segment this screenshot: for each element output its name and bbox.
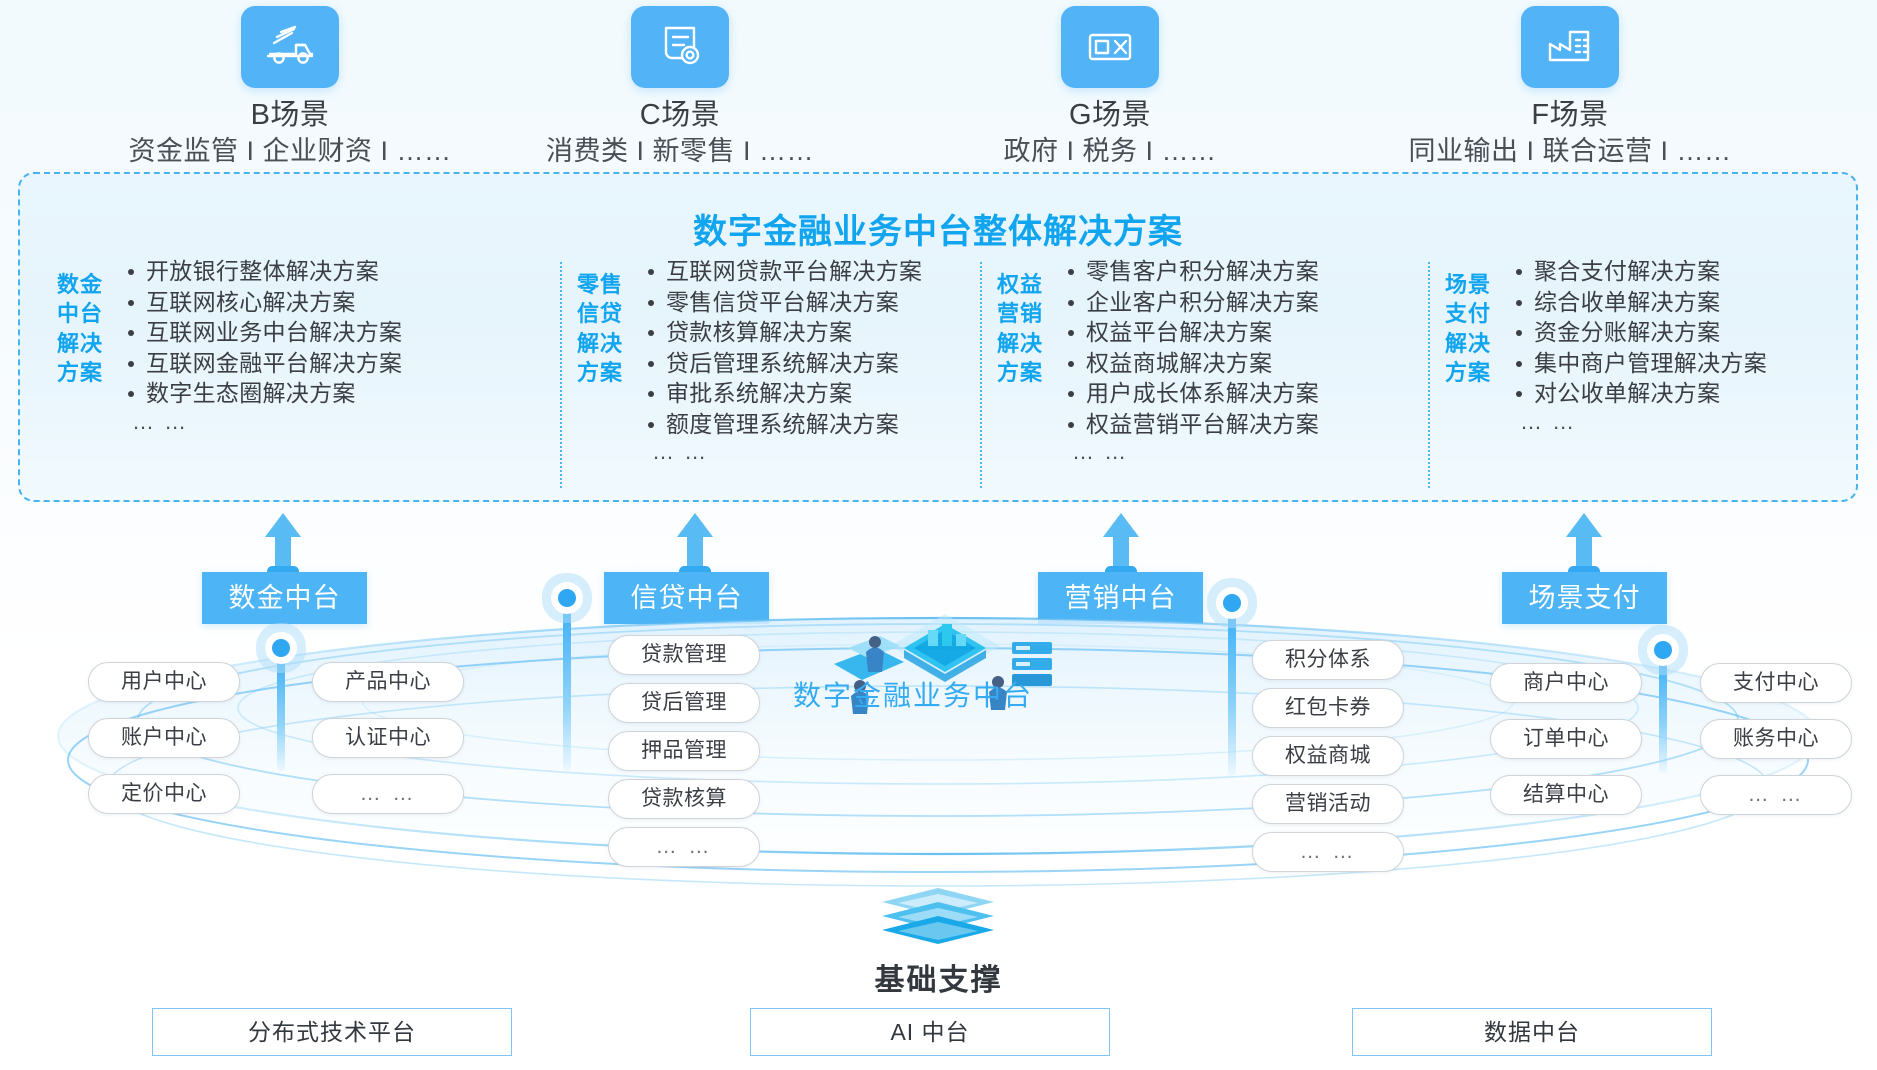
diagram-canvas: B场景 资金监管 I 企业财资 I …… C场景 消费类 I 新零售 I ……: [0, 0, 1877, 1070]
scene-subtitle: 政府 I 税务 I ……: [930, 135, 1290, 167]
solution-more: … …: [112, 409, 402, 435]
capability-chip[interactable]: 营销活动: [1252, 784, 1404, 824]
government-bank-icon: [1061, 6, 1159, 88]
capability-chip[interactable]: 支付中心: [1700, 663, 1852, 703]
capability-chip[interactable]: 账务中心: [1700, 719, 1852, 759]
solution-item: 数字生态圈解决方案: [126, 378, 402, 409]
up-arrow-zhifu: [1566, 513, 1602, 571]
solution-column-tag: 场景支付解决方案: [1436, 270, 1500, 387]
solution-list: 开放银行整体解决方案 互联网核心解决方案 互联网业务中台解决方案 互联网金融平台…: [112, 256, 402, 409]
capability-chip-more[interactable]: … …: [1252, 832, 1404, 872]
solution-item: 贷款核算解决方案: [646, 317, 922, 348]
scene-subtitle: 消费类 I 新零售 I ……: [500, 135, 860, 167]
solution-item: 互联网核心解决方案: [126, 287, 402, 318]
solution-columns: 数金中台解决方案 开放银行整体解决方案 互联网核心解决方案 互联网业务中台解决方…: [42, 256, 1838, 472]
capability-chip[interactable]: 产品中心: [312, 662, 464, 702]
scene-card-g[interactable]: G场景 政府 I 税务 I ……: [930, 6, 1290, 168]
capability-chip-more[interactable]: … …: [1700, 775, 1852, 815]
scene-title: C场景: [500, 98, 860, 132]
core-platform-label: 数字金融业务中台: [793, 674, 1033, 714]
capability-chip-more[interactable]: … …: [608, 827, 760, 867]
solution-item: 开放银行整体解决方案: [126, 256, 402, 287]
capability-chip[interactable]: 结算中心: [1490, 775, 1642, 815]
scene-card-c[interactable]: C场景 消费类 I 新零售 I ……: [500, 6, 860, 168]
scene-title: G场景: [930, 98, 1290, 132]
solution-column-quanyi: 权益营销解决方案 零售客户积分解决方案 企业客户积分解决方案 权益平台解决方案 …: [982, 256, 1430, 472]
solution-item: 零售客户积分解决方案: [1066, 256, 1319, 287]
base-box-ai[interactable]: AI 中台: [750, 1008, 1110, 1056]
scene-card-f[interactable]: F场景 同业输出 I 联合运营 I ……: [1390, 6, 1750, 168]
factory-building-icon: [1521, 6, 1619, 88]
scene-title: B场景: [110, 98, 470, 132]
scene-card-b[interactable]: B场景 资金监管 I 企业财资 I ……: [110, 6, 470, 168]
capability-chip[interactable]: 红包卡券: [1252, 688, 1404, 728]
solution-item: 权益营销平台解决方案: [1066, 409, 1319, 440]
solution-more: … …: [632, 439, 922, 465]
solution-column-lingshou: 零售信贷解决方案 互联网贷款平台解决方案 零售信贷平台解决方案 贷款核算解决方案…: [562, 256, 982, 472]
solution-item: 额度管理系统解决方案: [646, 409, 922, 440]
solution-column-shujin: 数金中台解决方案 开放银行整体解决方案 互联网核心解决方案 互联网业务中台解决方…: [42, 256, 562, 472]
capability-chip-more[interactable]: … …: [312, 774, 464, 814]
capability-chip[interactable]: 用户中心: [88, 662, 240, 702]
solution-item: 聚合支付解决方案: [1514, 256, 1767, 287]
solution-item: 互联网业务中台解决方案: [126, 317, 402, 348]
solution-box: 数字金融业务中台整体解决方案 数金中台解决方案 开放银行整体解决方案 互联网核心…: [18, 172, 1858, 502]
scene-subtitle: 同业输出 I 联合运营 I ……: [1390, 135, 1750, 167]
solution-column-tag: 数金中台解决方案: [48, 270, 112, 387]
capability-chip[interactable]: 权益商城: [1252, 736, 1404, 776]
capability-chip[interactable]: 贷后管理: [608, 683, 760, 723]
solution-item: 集中商户管理解决方案: [1514, 348, 1767, 379]
truck-logistics-icon: [241, 6, 339, 88]
base-support-title: 基础支撑: [0, 955, 1877, 999]
capability-chip[interactable]: 贷款管理: [608, 635, 760, 675]
solution-list: 聚合支付解决方案 综合收单解决方案 资金分账解决方案 集中商户管理解决方案 对公…: [1500, 256, 1767, 409]
solution-item: 企业客户积分解决方案: [1066, 287, 1319, 318]
solution-column-tag: 权益营销解决方案: [988, 270, 1052, 387]
solution-item: 权益平台解决方案: [1066, 317, 1319, 348]
solution-item: 零售信贷平台解决方案: [646, 287, 922, 318]
capability-chip[interactable]: 认证中心: [312, 718, 464, 758]
base-box-data[interactable]: 数据中台: [1352, 1008, 1712, 1056]
solution-column-changjing: 场景支付解决方案 聚合支付解决方案 综合收单解决方案 资金分账解决方案 集中商户…: [1430, 256, 1838, 472]
platform-3d-illustration: [800, 590, 1090, 740]
capability-chip[interactable]: 商户中心: [1490, 663, 1642, 703]
solution-item: 综合收单解决方案: [1514, 287, 1767, 318]
solution-box-title: 数字金融业务中台整体解决方案: [20, 204, 1856, 253]
layered-stack-icon: [868, 886, 1008, 948]
up-arrow-xindai: [677, 513, 713, 571]
solution-item: 资金分账解决方案: [1514, 317, 1767, 348]
solution-item: 权益商城解决方案: [1066, 348, 1319, 379]
solution-list: 零售客户积分解决方案 企业客户积分解决方案 权益平台解决方案 权益商城解决方案 …: [1052, 256, 1319, 439]
capability-chip[interactable]: 押品管理: [608, 731, 760, 771]
base-box-distributed[interactable]: 分布式技术平台: [152, 1008, 512, 1056]
document-search-icon: [631, 6, 729, 88]
solution-item: 互联网贷款平台解决方案: [646, 256, 922, 287]
capability-chip[interactable]: 积分体系: [1252, 640, 1404, 680]
solution-item: 审批系统解决方案: [646, 378, 922, 409]
capability-chip[interactable]: 贷款核算: [608, 779, 760, 819]
solution-item: 对公收单解决方案: [1514, 378, 1767, 409]
up-arrow-yingxiao: [1103, 513, 1139, 571]
scene-row: B场景 资金监管 I 企业财资 I …… C场景 消费类 I 新零售 I ……: [0, 6, 1877, 166]
capability-chip[interactable]: 订单中心: [1490, 719, 1642, 759]
scene-title: F场景: [1390, 98, 1750, 132]
solution-item: 互联网金融平台解决方案: [126, 348, 402, 379]
up-arrow-shujin: [265, 513, 301, 571]
capability-chip[interactable]: 定价中心: [88, 774, 240, 814]
solution-item: 贷后管理系统解决方案: [646, 348, 922, 379]
scene-subtitle: 资金监管 I 企业财资 I ……: [110, 135, 470, 167]
solution-more: … …: [1052, 439, 1319, 465]
solution-list: 互联网贷款平台解决方案 零售信贷平台解决方案 贷款核算解决方案 贷后管理系统解决…: [632, 256, 922, 439]
capability-chip[interactable]: 账户中心: [88, 718, 240, 758]
solution-more: … …: [1500, 409, 1767, 435]
solution-item: 用户成长体系解决方案: [1066, 378, 1319, 409]
solution-column-tag: 零售信贷解决方案: [568, 270, 632, 387]
